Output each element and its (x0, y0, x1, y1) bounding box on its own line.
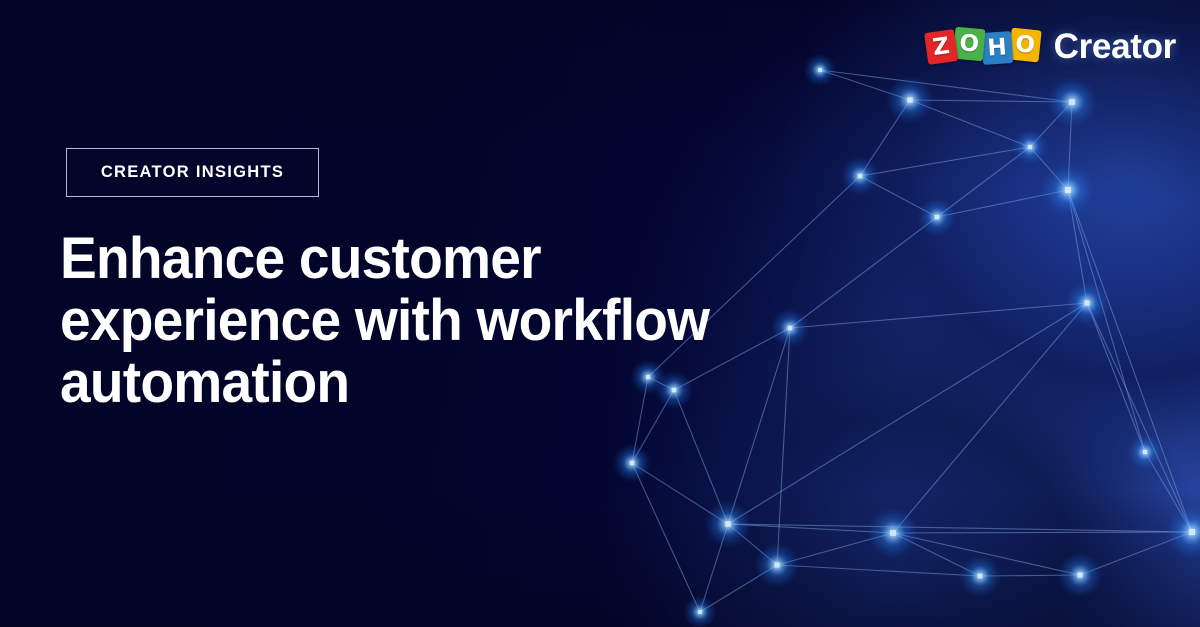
network-node (774, 562, 779, 567)
network-edge (820, 70, 1072, 102)
network-node (725, 521, 730, 526)
network-node (890, 530, 896, 536)
network-node (1065, 187, 1071, 193)
network-node (978, 574, 983, 579)
network-node (907, 97, 912, 102)
network-edge (893, 532, 1192, 533)
network-edge (1087, 303, 1192, 532)
network-node (858, 174, 862, 178)
network-node (818, 68, 822, 72)
network-node (1084, 300, 1089, 305)
headline-line-2: experience with workflow (60, 290, 763, 352)
creator-insights-badge: CREATOR INSIGHTS (66, 148, 319, 197)
network-node (698, 610, 702, 614)
headline-line-3: automation (60, 352, 763, 414)
network-edge (632, 463, 700, 612)
network-edge (860, 147, 1030, 176)
headline-line-1: Enhance customer (60, 228, 763, 290)
network-edge (1068, 190, 1192, 532)
network-node (1069, 99, 1075, 105)
network-edge (777, 565, 980, 576)
product-name-creator: Creator (1054, 29, 1176, 64)
zoho-tile-o2: O (1008, 28, 1041, 63)
network-node (1189, 529, 1195, 535)
badge-label: CREATOR INSIGHTS (101, 163, 284, 182)
zoho-creator-logo[interactable]: Z O H O Creator (926, 22, 1176, 70)
zoho-tile-z: Z (924, 29, 958, 65)
zoho-creator-banner: Z O H O Creator CREATOR INSIGHTS Enhance… (0, 0, 1200, 627)
zoho-tile-h: H (981, 31, 1013, 65)
network-edge (790, 217, 937, 328)
network-node (1077, 572, 1082, 577)
network-node (1143, 450, 1147, 454)
zoho-wordmark: Z O H O (926, 25, 1040, 67)
network-node (1028, 145, 1032, 149)
network-node (935, 215, 939, 219)
network-edge (893, 303, 1087, 533)
headline: Enhance customer experience with workflo… (60, 228, 800, 414)
network-node (630, 461, 634, 465)
network-edge (790, 303, 1087, 328)
